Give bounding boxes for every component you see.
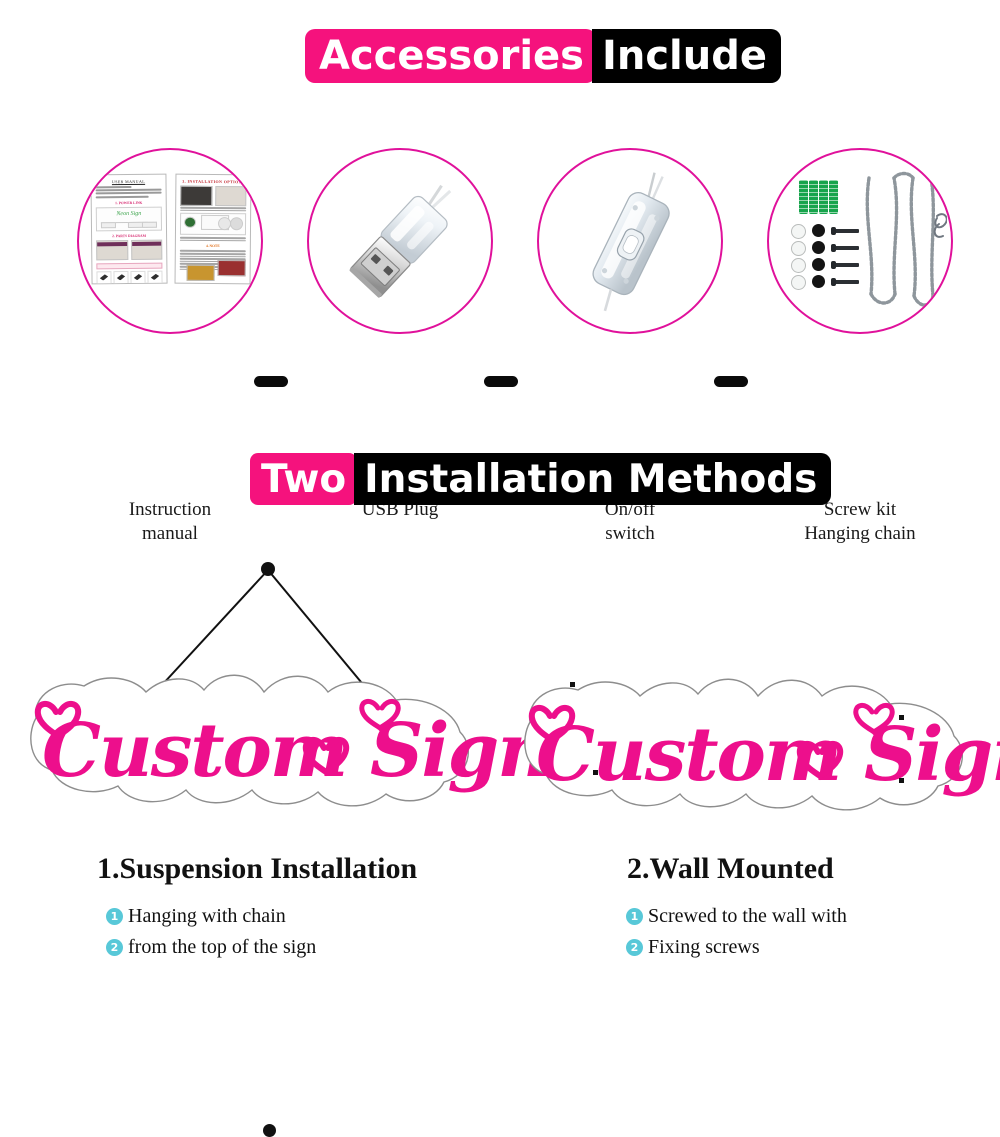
onoff-switch-icon — [539, 150, 721, 332]
installation-methods-banner: Two Installation Methods — [250, 453, 831, 505]
separator-dash-2 — [484, 376, 518, 387]
manual-page-left: USER MANUAL 1. POWER LINK Neon Sign 2. P… — [90, 174, 167, 285]
manual-script-logo: Neon Sign — [116, 210, 141, 216]
accessory-usb-plug: USB Plug — [307, 148, 493, 334]
heart-accents — [34, 686, 474, 806]
hanging-chain-icon — [861, 168, 947, 318]
accessory-label: Screw kit Hanging chain — [730, 498, 990, 547]
wall-mounted-sign-illustration: Custom Sign — [508, 660, 988, 830]
manual-page-right: 3. INSTALLATION OPTIONS — [175, 174, 252, 285]
bullet-number: 1 — [626, 908, 643, 925]
accessory-screw-kit: Screw kit Hanging chain — [767, 148, 953, 334]
accessory-circle: USER MANUAL 1. POWER LINK Neon Sign 2. P… — [77, 148, 263, 334]
accessories-row: USER MANUAL 1. POWER LINK Neon Sign 2. P… — [0, 148, 1000, 338]
separator-dash-3 — [714, 376, 748, 387]
bullet-number: 2 — [626, 939, 643, 956]
switch-svg — [557, 164, 707, 324]
bullet-text: Screwed to the wall with — [648, 905, 847, 928]
usb-plug-icon — [309, 150, 491, 332]
bullet-number: 1 — [106, 908, 123, 925]
suspension-sign-illustration: Custom Sign — [14, 558, 494, 828]
screw-hole — [899, 778, 904, 783]
method-1-bullet-1: 1 Hanging with chain — [106, 905, 286, 928]
instruction-manual-icon: USER MANUAL 1. POWER LINK Neon Sign 2. P… — [79, 150, 261, 332]
manual-install-title: 3. INSTALLATION OPTIONS — [180, 179, 246, 185]
infographic-page: Accessories Include USER MANUAL 1. POWER… — [0, 0, 1000, 1000]
accessories-banner-highlight: Accessories — [305, 29, 596, 83]
accessory-label: On/off switch — [500, 498, 760, 547]
accessories-banner-rest: Include — [592, 29, 781, 83]
accessory-circle — [307, 148, 493, 334]
method-1-bullet-2: 2 from the top of the sign — [106, 936, 316, 959]
manual-note-title: 4. NOTE — [180, 244, 246, 249]
separator-dash-1 — [254, 376, 288, 387]
method-2-bullet-2: 2 Fixing screws — [626, 936, 760, 959]
accessory-circle — [767, 148, 953, 334]
accessory-label: Instruction manual — [40, 498, 300, 547]
screw-hole — [570, 682, 575, 687]
screw-hole — [593, 770, 598, 775]
bullet-text: Fixing screws — [648, 936, 760, 959]
manual-section-1: 1. POWER LINK — [96, 200, 162, 205]
heart-accents — [528, 690, 968, 810]
method-2-bullet-1: 1 Screwed to the wall with — [626, 905, 847, 928]
bullet-text: Hanging with chain — [128, 905, 286, 928]
method-2-heading: 2.Wall Mounted — [627, 852, 834, 886]
screw-kit-icon — [769, 150, 951, 332]
methods-banner-highlight: Two — [250, 453, 357, 505]
usb-plug-svg — [329, 170, 479, 320]
accessory-circle — [537, 148, 723, 334]
accessory-onoff-switch: On/off switch — [537, 148, 723, 334]
accessories-banner: Accessories Include — [305, 29, 781, 83]
manual-section-2: 2. PARTS DIAGRAM — [96, 233, 162, 238]
bullet-text: from the top of the sign — [128, 936, 316, 959]
accessory-instruction-manual: USER MANUAL 1. POWER LINK Neon Sign 2. P… — [77, 148, 263, 334]
method-1-heading: 1.Suspension Installation — [97, 852, 417, 886]
methods-banner-rest: Installation Methods — [354, 453, 831, 505]
manual-title: USER MANUAL — [95, 179, 161, 185]
screw-hole — [899, 715, 904, 720]
bullet-number: 2 — [106, 939, 123, 956]
